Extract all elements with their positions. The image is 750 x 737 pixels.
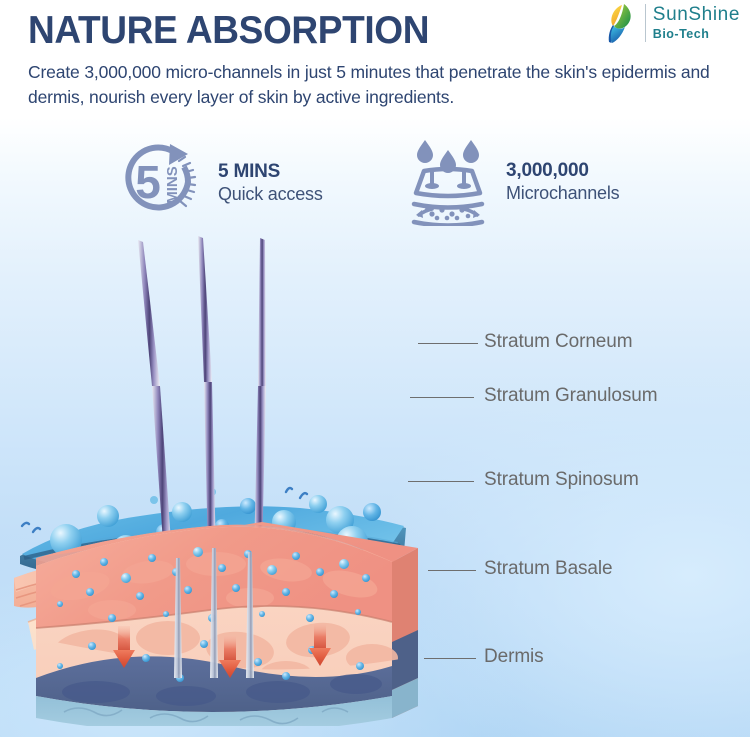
hummingbird-leaf-logo-icon bbox=[602, 2, 638, 44]
logo-tagline: Bio-Tech bbox=[653, 28, 740, 41]
skin-layers-microneedling-illustration bbox=[0, 226, 520, 726]
clock-icon-unit: MINS bbox=[164, 166, 181, 204]
clock-icon-number: 5 bbox=[135, 156, 161, 208]
five-minutes-clock-icon: 5 MINS bbox=[122, 140, 206, 226]
feature-quick-access: 5 MINS 5 MINS Quick access bbox=[122, 140, 323, 226]
feature-microchannels-value: 3,000,000 bbox=[506, 160, 619, 182]
microchannels-droplet-icon bbox=[402, 138, 494, 226]
feature-quick-access-label: Quick access bbox=[218, 183, 323, 206]
infographic-poster: NATURE ABSORPTION Create 3,000,000 micro… bbox=[0, 0, 750, 737]
logo-divider bbox=[645, 4, 646, 42]
feature-microchannels-label: Microchannels bbox=[506, 182, 619, 205]
microneedle-group-upper bbox=[138, 236, 266, 386]
logo-brand-name: SunShine bbox=[653, 5, 740, 24]
layer-basale-dermis-block bbox=[36, 522, 418, 726]
feature-microchannels: 3,000,000 Microchannels bbox=[402, 138, 619, 226]
brand-logo: SunShine Bio-Tech bbox=[602, 2, 740, 44]
page-title: NATURE ABSORPTION bbox=[28, 8, 429, 54]
page-subtitle: Create 3,000,000 micro-channels in just … bbox=[28, 60, 718, 110]
feature-quick-access-value: 5 MINS bbox=[218, 161, 323, 183]
